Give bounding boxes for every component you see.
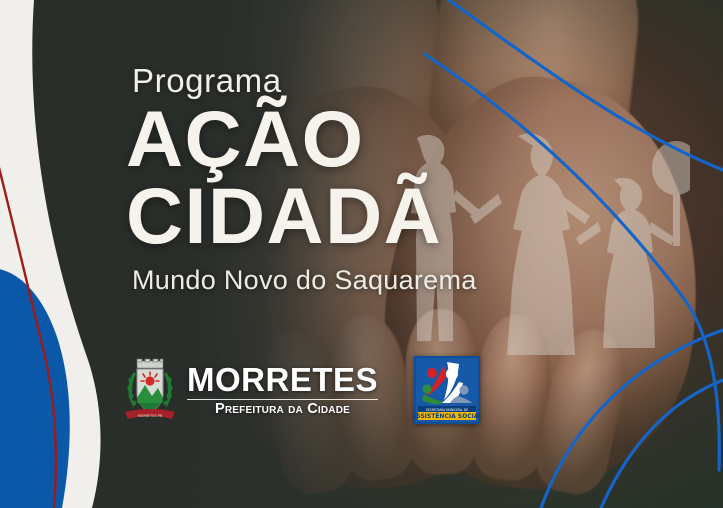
headline-line-2: CIDADÃ	[126, 178, 558, 253]
morretes-wordmark: MORRETES Prefeitura da Cidade	[187, 363, 378, 417]
morretes-name: MORRETES	[187, 363, 378, 396]
program-kicker: Programa	[132, 64, 558, 97]
headline-text-block: Programa AÇÃO CIDADÃ Mundo Novo do Saqua…	[128, 64, 558, 294]
morretes-subtitle: Prefeitura da Cidade	[187, 402, 378, 417]
locality-subtitle: Mundo Novo do Saquarema	[132, 267, 558, 294]
assistencia-social-logo-icon: SECRETARIA MUNICIPAL DE ASSISTÊNCIA SOCI…	[414, 356, 480, 424]
headline-line-1: AÇÃO	[126, 101, 558, 176]
svg-text:SECRETARIA MUNICIPAL DE: SECRETARIA MUNICIPAL DE	[426, 408, 468, 412]
logo-row: MORRETES PR MORRETES Prefeitura da Cidad…	[122, 356, 480, 424]
poster-canvas: Programa AÇÃO CIDADÃ Mundo Novo do Saqua…	[0, 0, 723, 508]
svg-text:MORRETES PR: MORRETES PR	[138, 414, 163, 418]
morretes-city-logo: MORRETES PR MORRETES Prefeitura da Cidad…	[122, 358, 378, 422]
morretes-coat-of-arms-icon: MORRETES PR	[122, 358, 178, 422]
flag-swoosh-decoration	[0, 0, 130, 508]
svg-text:ASSISTÊNCIA SOCIAL: ASSISTÊNCIA SOCIAL	[414, 412, 480, 420]
